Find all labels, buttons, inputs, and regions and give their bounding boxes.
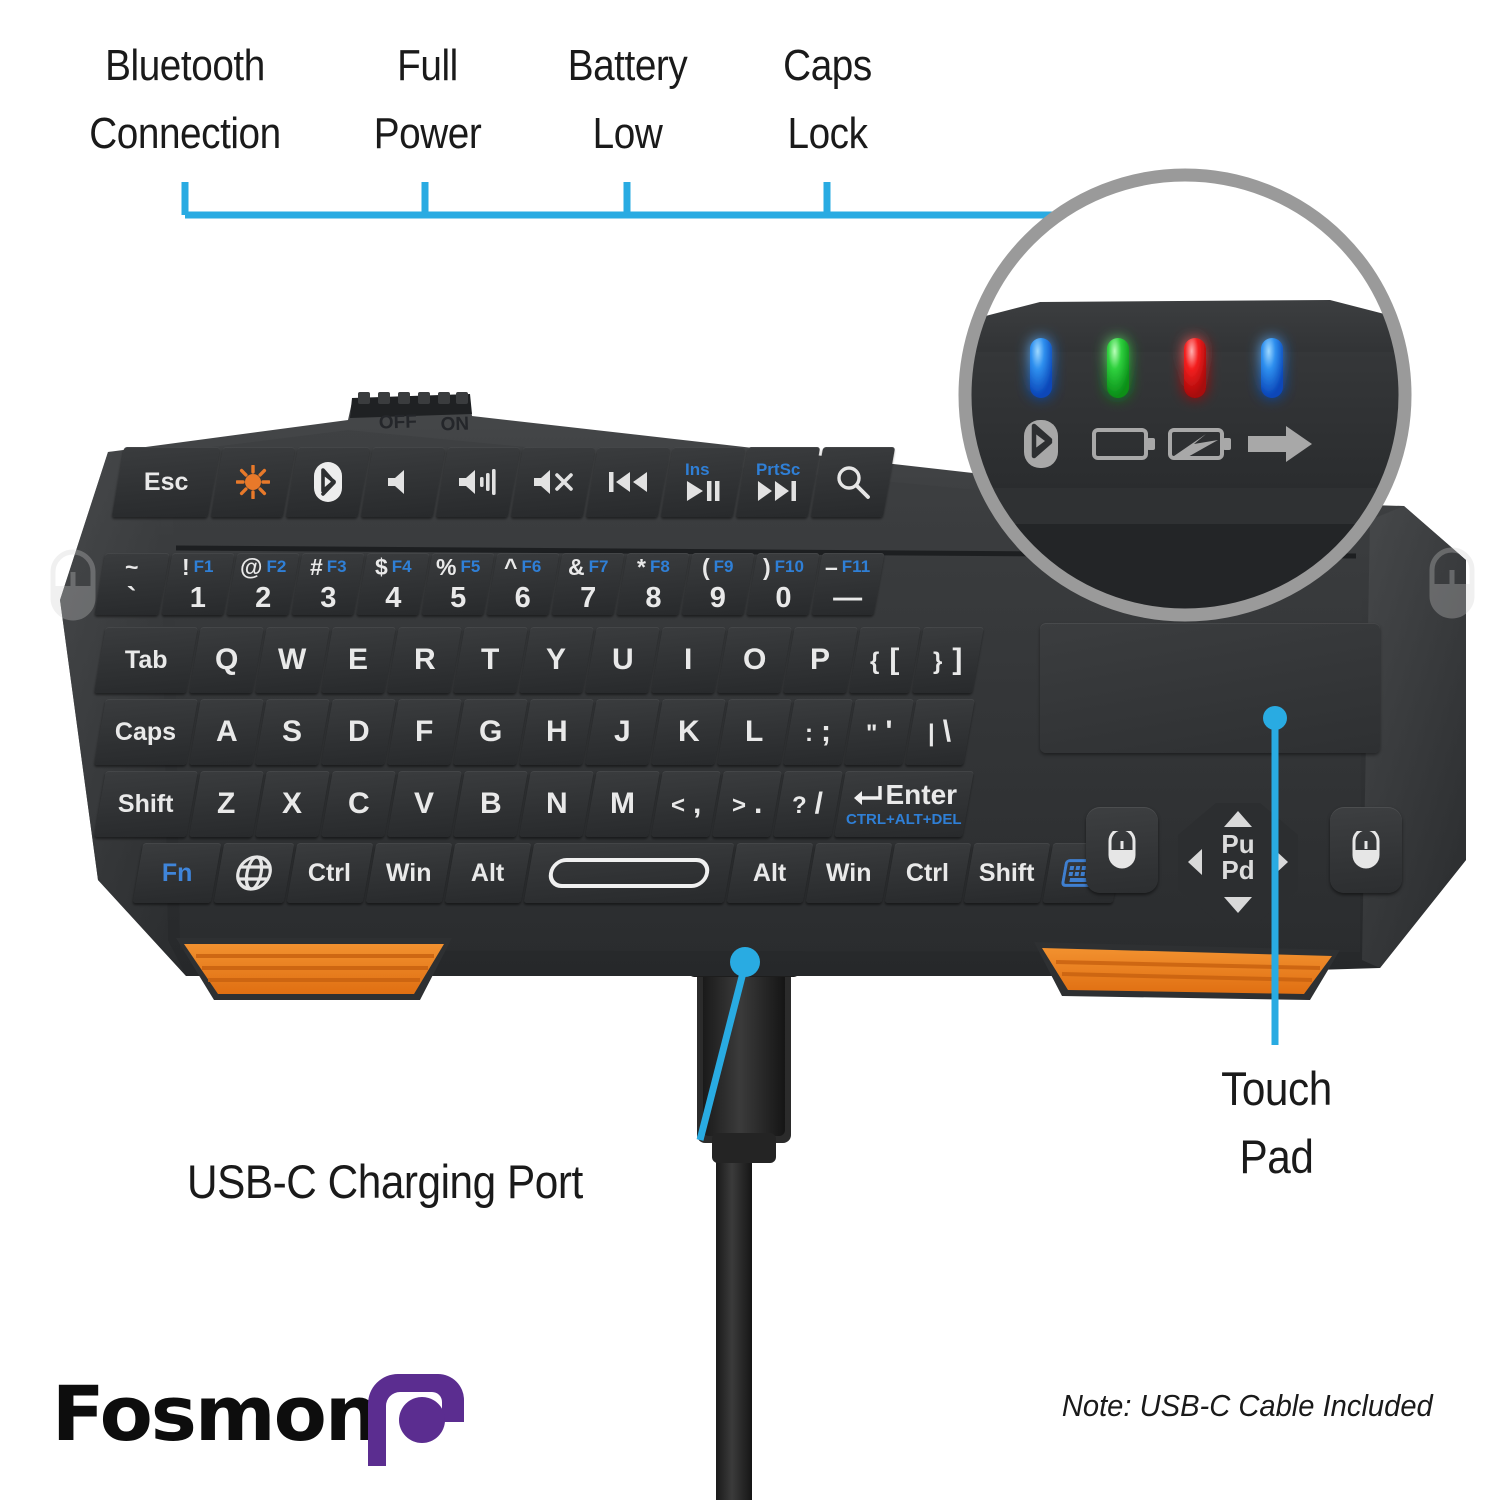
touch-pad-dot (1263, 706, 1287, 730)
usb-c-port-label: USB-C Charging Port (187, 1148, 583, 1216)
usb-c-port-dot (730, 947, 760, 977)
fosmon-logo: Fosmon (55, 1372, 465, 1462)
touch-pad-label: Touch Pad (1221, 1055, 1332, 1191)
fosmon-mark-icon (360, 1370, 470, 1468)
infographic-canvas: Bluetooth Connection Full Power Battery … (0, 0, 1500, 1500)
brand-name: Fosmon (52, 1376, 378, 1452)
cable-included-note: Note: USB-C Cable Included (1062, 1388, 1433, 1424)
leader-lines-bottom (0, 0, 1500, 1500)
